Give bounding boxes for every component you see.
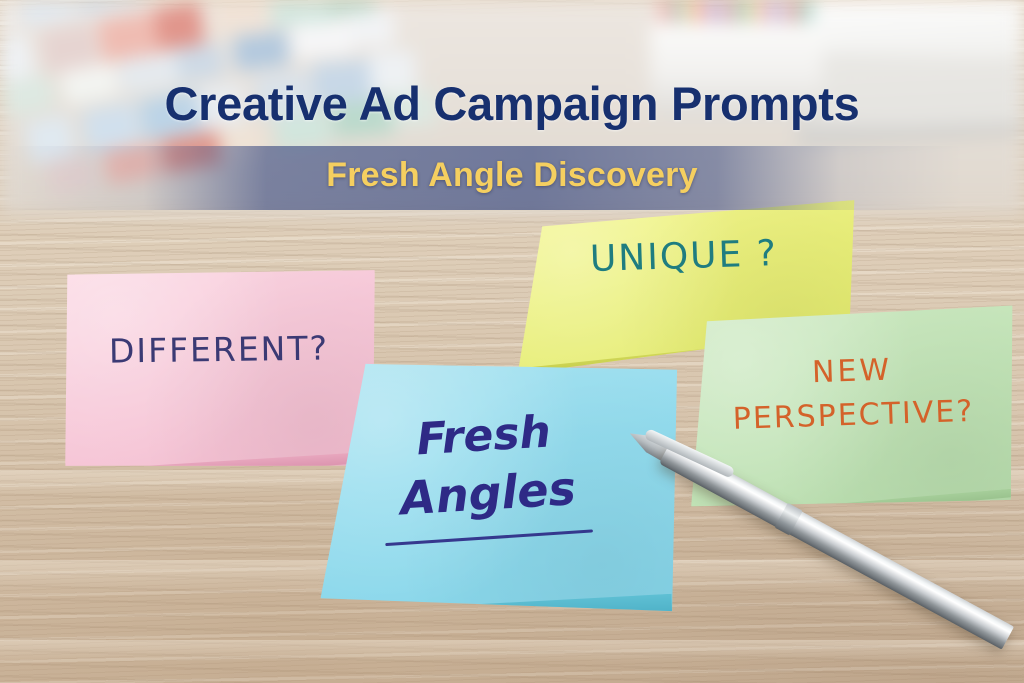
poster-canvas: DIFFERENT? UNIQUE ? NEW PERSPECTIVE? Fre… (0, 0, 1024, 683)
color-swatch (18, 0, 78, 26)
page-title: Creative Ad Campaign Prompts (0, 76, 1024, 131)
color-swatch (0, 0, 13, 38)
color-swatch (290, 20, 355, 59)
page-subtitle: Fresh Angle Discovery (0, 156, 1024, 195)
color-swatch (347, 11, 395, 48)
color-swatch (76, 0, 143, 15)
note-text-different: DIFFERENT? (59, 328, 380, 371)
sticky-note-pink[interactable]: DIFFERENT? (54, 253, 385, 483)
color-swatch (133, 0, 183, 3)
color-swatch (154, 2, 206, 50)
sticky-note-blue[interactable]: Fresh Angles (315, 354, 683, 631)
color-swatch (232, 31, 290, 71)
